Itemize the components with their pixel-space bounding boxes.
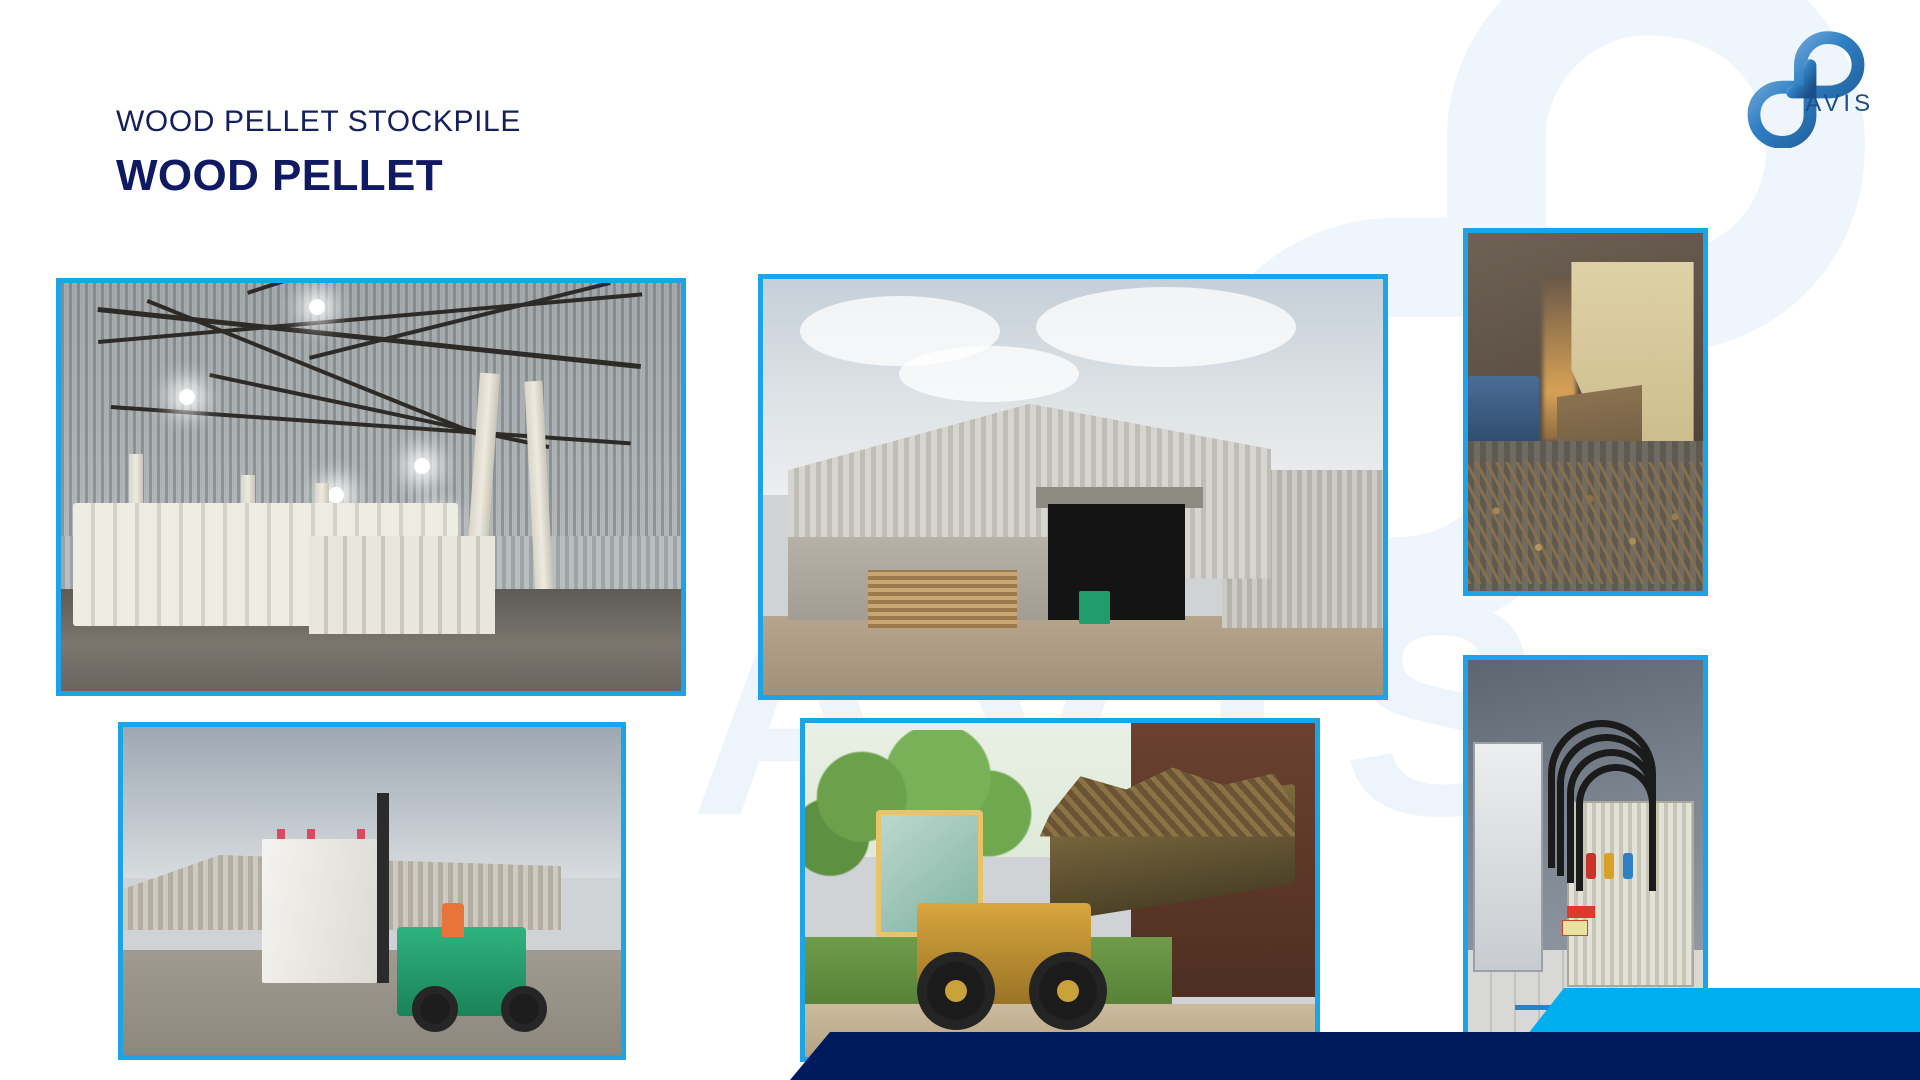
page-title: WOOD PELLET — [116, 148, 521, 203]
photo-warehouse-exterior-facade[interactable]: Corrugated steel warehouse exterior with… — [758, 274, 1388, 700]
photo-wheel-loader-woodchips[interactable]: Yellow wheel loader tipping a bucket of … — [800, 718, 1320, 1062]
photo-scene — [123, 727, 621, 1055]
decorative-band-navy — [790, 1032, 1920, 1080]
photo-scene — [763, 279, 1383, 695]
photo-forklift-bulk-bag[interactable]: Green forklift lifting a white jumbo bul… — [118, 722, 626, 1060]
heading-block: WOOD PELLET STOCKPILE WOOD PELLET — [116, 104, 521, 203]
photo-pellet-mill-conveyor[interactable]: Pellet mill discharging freshly pressed … — [1463, 228, 1708, 596]
photo-warehouse-interior-pellet-bags[interactable]: Warehouse interior with stacked white bu… — [56, 278, 686, 696]
avis-logo: AVIS — [1722, 28, 1882, 148]
eyebrow-text: WOOD PELLET STOCKPILE — [116, 104, 521, 140]
photo-scene — [805, 723, 1315, 1057]
slide-canvas: AVIS WOOD PELLET STOCKPILE WOOD PELLET A… — [0, 0, 1920, 1080]
photo-scene — [61, 283, 681, 691]
photo-transformer-cable-room[interactable]: Electrical room with a distribution tran… — [1463, 655, 1708, 1037]
photo-scene — [1468, 660, 1703, 1032]
photo-scene — [1468, 233, 1703, 591]
logo-wordmark: AVIS — [1805, 90, 1874, 117]
